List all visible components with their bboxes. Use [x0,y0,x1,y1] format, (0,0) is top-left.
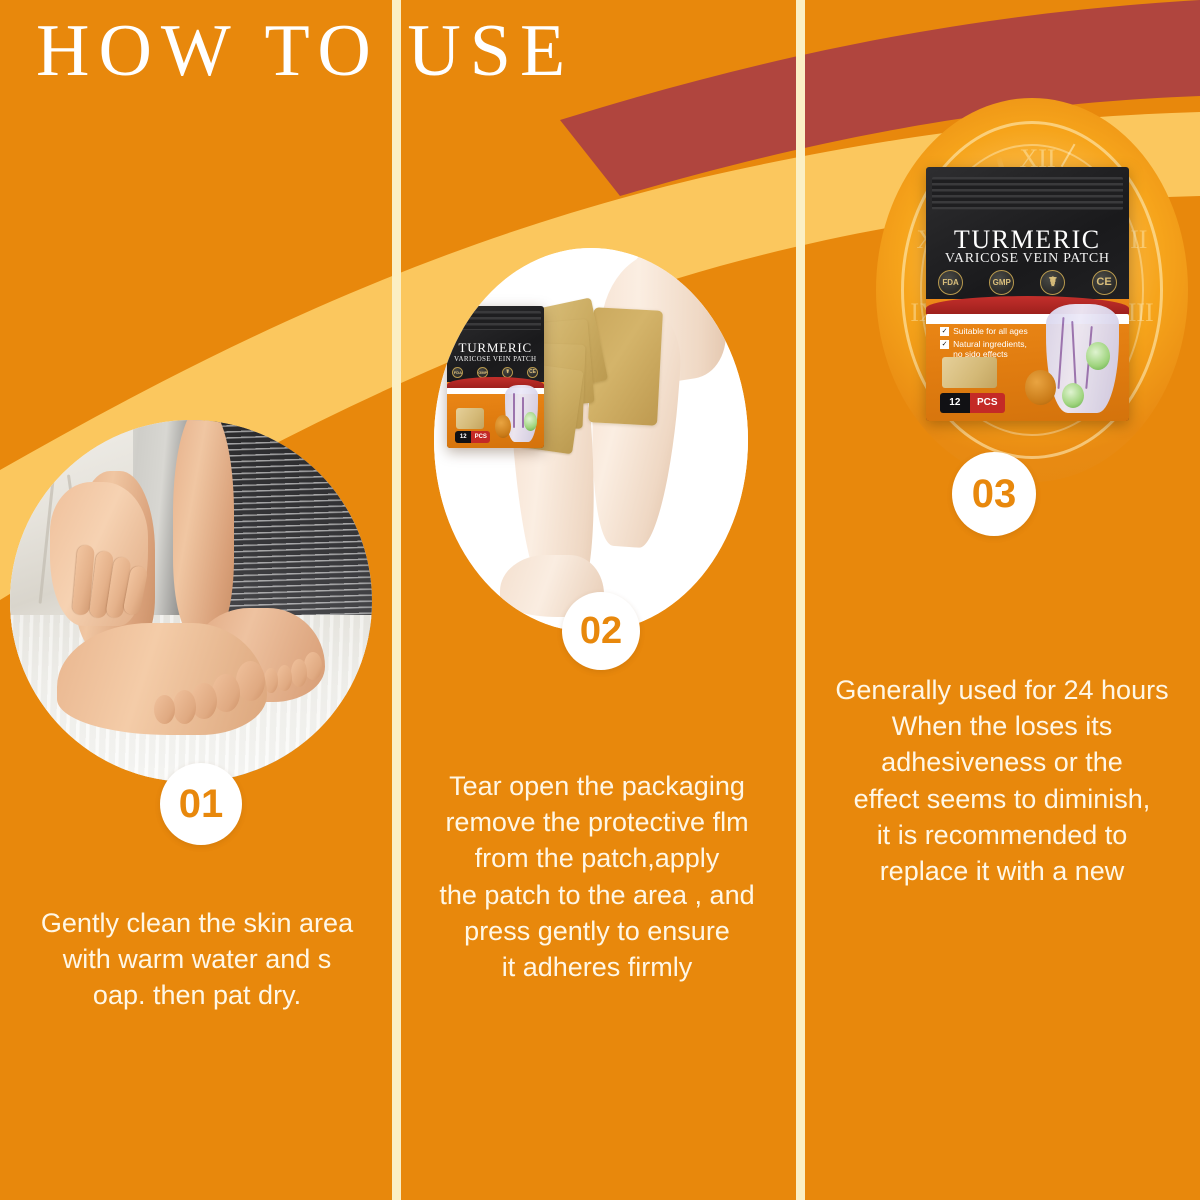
turmeric-root-icon [495,415,511,438]
product-subtitle: VARICOSE VEIN PATCH [447,355,544,363]
pouch-zipper [932,177,1123,210]
bullet-item: ✓ Suitable for all ages [940,327,1045,337]
step-2-caption: Tear open the packaging remove the prote… [406,768,788,985]
turmeric-root-icon [1025,370,1055,405]
step-badge-01: 01 [160,763,242,845]
clock-numeral: III [1128,298,1154,328]
hand-washing-ankle [50,482,148,627]
step-3-photo: XII II III X IX TURMERIC VARICOSE VEIN P… [876,98,1188,482]
fda-badge-icon: FDA [452,367,463,378]
step-1-photo [10,420,372,782]
pack-count-badge: 12 PCS [455,431,490,444]
pouch-patch-image [942,357,997,387]
column-divider-2 [796,0,805,1200]
step-1-caption: Gently clean the skin area with warm wat… [8,905,386,1014]
caduceus-badge-icon: ☤ [502,367,513,378]
how-to-use-poster: HOW TO USE [0,0,1200,1200]
gmp-badge-icon: GMP [477,367,488,378]
natural-leaf-icon [524,412,537,430]
ce-badge-icon: CE [527,367,538,378]
product-subtitle: VARICOSE VEIN PATCH [926,251,1129,267]
page-title: HOW TO USE [36,14,574,88]
step-3-caption: Generally used for 24 hours When the los… [808,672,1196,889]
product-brand-name: TURMERIC [447,340,544,356]
bullet-text: Suitable for all ages [953,327,1028,337]
back-leg [173,420,235,637]
ce-badge-icon: CE [1092,270,1117,295]
checkmark-icon: ✓ [940,327,949,336]
fda-badge-icon: FDA [938,270,963,295]
step-badge-03: 03 [952,452,1036,536]
caduceus-badge-icon: ☤ [1040,270,1065,295]
pouch-patch-image [456,408,483,429]
natural-leaf-icon [1062,383,1084,408]
shower-scene [10,420,372,782]
product-package-large: TURMERIC VARICOSE VEIN PATCH FDA GMP ☤ C… [926,167,1129,420]
checkmark-icon: ✓ [940,340,949,349]
pack-count-badge: 12 PCS [940,393,1005,413]
step-2-photo: TURMERIC VARICOSE VEIN PATCH FDA GMP ☤ C… [434,248,748,632]
front-foot [57,623,267,735]
pouch-zipper [449,311,541,329]
clock-numeral: II [1130,225,1147,255]
column-divider-1 [392,0,401,1200]
gmp-badge-icon: GMP [989,270,1014,295]
product-package-small: TURMERIC VARICOSE VEIN PATCH FDA GMP ☤ C… [447,306,544,448]
legs-scene: TURMERIC VARICOSE VEIN PATCH FDA GMP ☤ C… [434,248,748,632]
step-badge-02: 02 [562,592,640,670]
